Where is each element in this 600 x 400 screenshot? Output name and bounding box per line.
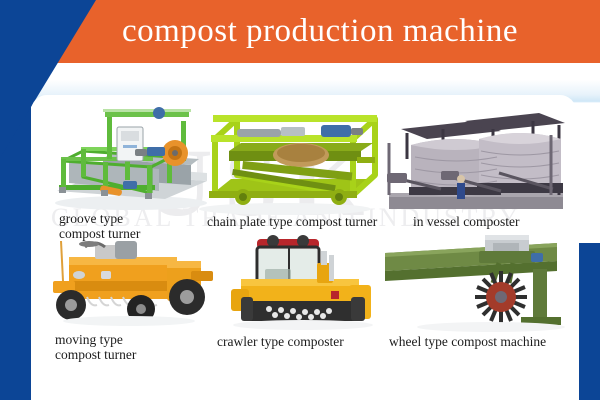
product-caption: moving type compost turner <box>55 333 136 362</box>
product-caption: in vessel composter <box>413 215 519 230</box>
crawler-type-composter-image <box>211 235 401 335</box>
product-card: USK GLOBAL TRADE AND INDUSTRY <box>31 95 576 377</box>
page-title-text: compost production machine <box>82 13 518 50</box>
in-vessel-composter-image <box>381 99 571 217</box>
product-caption: wheel type compost machine <box>389 335 546 350</box>
product-item-wheel-type-compost-machine[interactable]: wheel type compost machine <box>381 235 576 369</box>
product-item-in-vessel-composter[interactable]: in vessel composter <box>381 99 571 229</box>
chain-plate-type-compost-turner-image <box>181 99 391 217</box>
right-blue-bar <box>579 243 600 400</box>
product-item-chain-plate-type-compost-turner[interactable]: chain plate type compost turner <box>181 99 391 229</box>
moving-type-compost-turner-image <box>41 235 221 333</box>
product-caption: crawler type composter <box>217 335 344 350</box>
wheel-type-compost-machine-image <box>381 235 576 335</box>
poster-canvas: compost production machine USK GLOBAL TR… <box>0 0 600 400</box>
product-grid: groove type compost turner <box>31 95 576 377</box>
product-item-moving-type-compost-turner[interactable]: moving type compost turner <box>41 235 221 369</box>
product-item-crawler-type-composter[interactable]: crawler type composter <box>211 235 401 369</box>
product-caption: chain plate type compost turner <box>207 215 377 230</box>
